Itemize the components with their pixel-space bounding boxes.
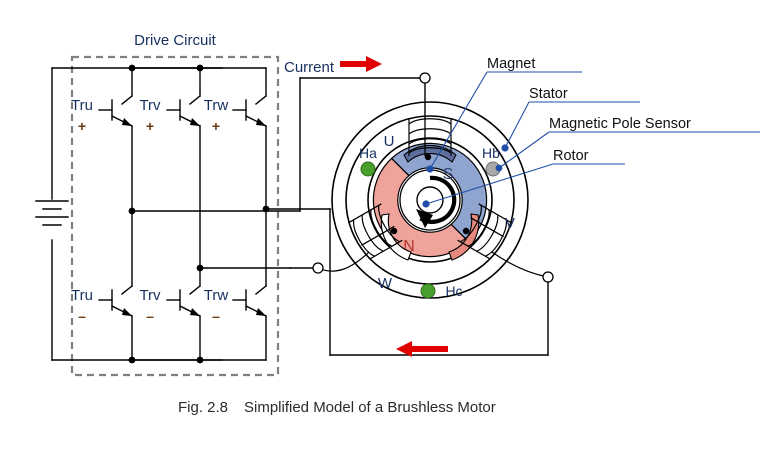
callout-magnetic-pole-sensor: Magnetic Pole Sensor: [496, 116, 760, 171]
label-trv-plus: Trv: [139, 97, 161, 114]
tru-plus-collector-lead: [122, 96, 132, 104]
current-label: Current: [284, 59, 335, 76]
callout-rotor-label: Rotor: [553, 148, 589, 164]
trv-minus-emitter-arrow: [190, 308, 200, 316]
transistor-tru-minus: Tru –: [71, 211, 132, 360]
motor-assembly: S N U: [318, 78, 548, 299]
transistor-trv-minus: Trv –: [139, 268, 200, 360]
tru-minus-collector-lead: [122, 286, 132, 294]
tru-minus-emitter-arrow: [122, 308, 132, 316]
sign-tru-minus: –: [78, 308, 86, 324]
callout-magnet-label: Magnet: [487, 56, 535, 72]
node-top-u: [129, 65, 136, 72]
terminal-u: [420, 73, 430, 83]
sign-trw-plus: +: [212, 118, 220, 134]
terminal-w: [313, 263, 323, 273]
figure-root: Tru + Trv + Trw +: [0, 0, 765, 451]
tru-plus-emitter-arrow: [122, 118, 132, 126]
hall-sensor-ha-label: Ha: [359, 145, 377, 161]
terminal-v: [543, 272, 553, 282]
trw-minus-collector-lead: [256, 286, 266, 294]
node-winding-v: [463, 228, 469, 234]
node-top-v: [197, 65, 204, 72]
hall-sensor-hc-label: Hc: [445, 283, 462, 299]
trv-plus-collector-lead: [190, 96, 200, 104]
label-tru-plus: Tru: [71, 97, 93, 114]
phase-label-v: V: [505, 215, 515, 232]
caption-title: Simplified Model of a Brushless Motor: [244, 399, 496, 416]
trw-plus-collector-lead: [256, 96, 266, 104]
hall-sensor-hc-dot: [421, 284, 435, 298]
rotor-pole-s-label: S: [443, 166, 454, 183]
phase-label-w: W: [378, 275, 393, 292]
transistor-trv-plus: Trv +: [139, 68, 200, 268]
brushless-motor-diagram: Tru + Trv + Trw +: [0, 0, 765, 451]
trw-plus-emitter-arrow: [256, 118, 266, 126]
trv-minus-collector-lead: [190, 286, 200, 294]
label-tru-minus: Tru: [71, 287, 93, 304]
node-winding-u: [425, 154, 431, 160]
sign-tru-plus: +: [78, 118, 86, 134]
phase-label-u: U: [384, 133, 395, 150]
callout-magnetic-pole-sensor-label: Magnetic Pole Sensor: [549, 116, 691, 132]
label-trw-plus: Trw: [204, 97, 229, 114]
sign-trv-minus: –: [146, 308, 154, 324]
transistor-trw-plus: Trw +: [204, 68, 266, 209]
node-bottom-u: [129, 357, 136, 364]
battery-symbol: [36, 201, 68, 225]
drive-circuit-title: Drive Circuit: [134, 32, 217, 49]
node-bottom-v: [197, 357, 204, 364]
current-arrow-top: [340, 56, 382, 72]
label-trw-minus: Trw: [204, 287, 229, 304]
hall-sensor-hb-label: Hb: [482, 145, 500, 161]
sign-trw-minus: –: [212, 308, 220, 324]
sign-trv-plus: +: [146, 118, 154, 134]
transistor-trw-minus: Trw –: [204, 209, 266, 360]
hall-sensor-ha-dot: [361, 162, 375, 176]
transistor-tru-plus: Tru +: [71, 68, 132, 211]
callout-stator-label: Stator: [529, 86, 568, 102]
node-winding-w: [391, 228, 397, 234]
hall-sensor-ha: Ha: [359, 145, 377, 176]
drive-circuit-boundary: [72, 57, 278, 375]
trv-plus-emitter-arrow: [190, 118, 200, 126]
label-trv-minus: Trv: [139, 287, 161, 304]
caption-number: Fig. 2.8: [178, 399, 228, 416]
trw-minus-emitter-arrow: [256, 308, 266, 316]
